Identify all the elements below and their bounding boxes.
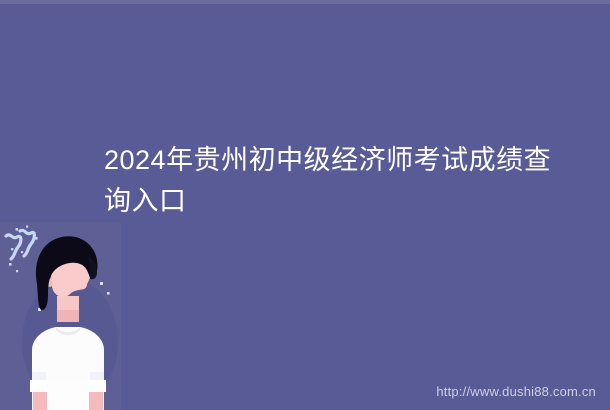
promo-banner: 2024年贵州初中级经济师考试成绩查询入口 http://www.dushi88… [0,0,610,410]
person-looking-up-illustration [0,222,121,410]
right-arm [89,389,103,410]
page-title: 2024年贵州初中级经济师考试成绩查询入口 [104,140,574,222]
left-arm [33,389,47,410]
neck-shadow [57,310,79,322]
top-edge-band [0,0,610,4]
shirt-front [47,380,89,410]
right-sleeve-hem [87,380,106,392]
watermark-url: http://www.dushi88.com.cn [436,384,596,399]
illustration-panel [0,222,121,410]
left-sleeve-hem [30,380,49,392]
wavy-squiggle-1 [6,235,21,259]
